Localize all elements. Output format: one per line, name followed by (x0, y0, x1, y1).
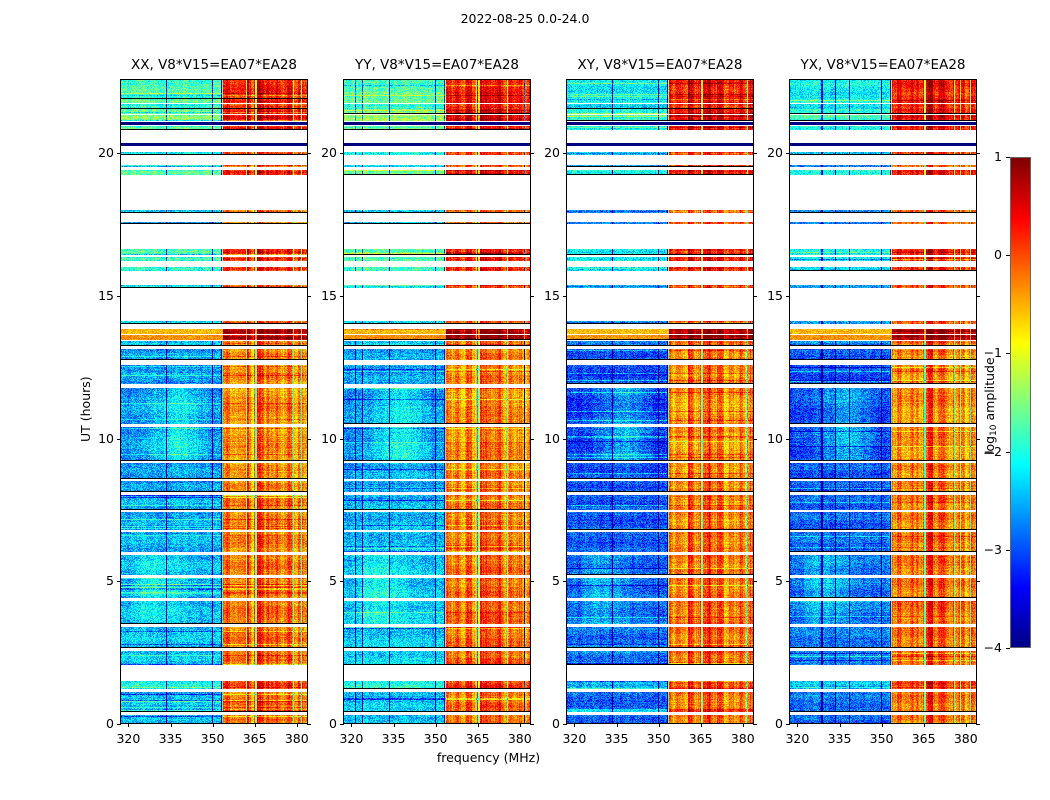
x-tick-mark (171, 723, 172, 727)
y-tick-label: 20 (743, 145, 783, 160)
y-tick-label: 10 (520, 431, 560, 446)
y-tick-label: 15 (743, 288, 783, 303)
x-tick-mark (840, 723, 841, 727)
x-tick-mark (701, 723, 702, 727)
y-tick-label: 15 (74, 288, 114, 303)
colorbar-tick-label: 1 (958, 149, 1002, 164)
y-tick-label: 20 (520, 145, 560, 160)
y-tick-label: 20 (297, 145, 337, 160)
x-tick-mark (882, 723, 883, 727)
colorbar-tick-label: 0 (958, 247, 1002, 262)
y-tick-label: 0 (743, 716, 783, 731)
x-axis-label: frequency (MHz) (0, 750, 977, 765)
waterfall-image-yy (344, 80, 531, 724)
y-tick-mark (340, 153, 344, 154)
panel-xx[interactable] (120, 79, 308, 724)
colorbar-tick-mark (1006, 550, 1010, 551)
y-tick-mark-right (976, 724, 980, 725)
y-tick-label: 10 (743, 431, 783, 446)
subplot-title-yx: YX, V8*V15=EA07*EA28 (729, 57, 1037, 73)
y-tick-mark (786, 296, 790, 297)
panel-yx[interactable] (789, 79, 977, 724)
figure-suptitle: 2022-08-25 0.0-24.0 (0, 11, 1050, 26)
colorbar-tick-mark (1006, 255, 1010, 256)
y-tick-mark (340, 724, 344, 725)
y-tick-mark (563, 296, 567, 297)
y-tick-mark (563, 581, 567, 582)
y-tick-label: 0 (297, 716, 337, 731)
y-tick-label: 5 (297, 573, 337, 588)
panel-xy[interactable] (566, 79, 754, 724)
y-tick-mark (340, 581, 344, 582)
y-tick-mark (117, 724, 121, 725)
x-tick-mark (797, 723, 798, 727)
colorbar-label-subscript: 10 (989, 424, 999, 435)
y-tick-label: 0 (520, 716, 560, 731)
y-tick-mark (563, 724, 567, 725)
y-tick-mark (786, 153, 790, 154)
y-tick-mark (786, 581, 790, 582)
waterfall-image-xx (121, 80, 308, 724)
x-tick-mark (966, 723, 967, 727)
y-tick-mark (340, 439, 344, 440)
colorbar-gradient (1011, 158, 1031, 648)
x-tick-label: 380 (495, 731, 545, 746)
y-tick-mark (563, 439, 567, 440)
y-tick-mark (117, 296, 121, 297)
x-tick-mark (924, 723, 925, 727)
x-tick-mark (478, 723, 479, 727)
y-tick-label: 10 (297, 431, 337, 446)
colorbar[interactable] (1010, 157, 1031, 648)
y-axis-label: UT (hours) (78, 376, 93, 442)
x-tick-mark (213, 723, 214, 727)
x-tick-mark (128, 723, 129, 727)
colorbar-tick-label: −4 (958, 640, 1002, 655)
y-tick-mark (340, 296, 344, 297)
x-tick-mark (574, 723, 575, 727)
x-tick-mark (394, 723, 395, 727)
y-tick-mark (563, 153, 567, 154)
colorbar-tick-mark (1006, 157, 1010, 158)
waterfall-image-xy (567, 80, 754, 724)
panel-yy[interactable] (343, 79, 531, 724)
y-tick-label: 20 (74, 145, 114, 160)
waterfall-image-yx (790, 80, 977, 724)
y-tick-mark-right (976, 296, 980, 297)
colorbar-label: log10 amplitude (982, 357, 999, 455)
x-tick-mark (351, 723, 352, 727)
x-tick-mark (436, 723, 437, 727)
x-tick-label: 380 (272, 731, 322, 746)
x-tick-label: 380 (718, 731, 768, 746)
colorbar-tick-mark (1006, 648, 1010, 649)
y-tick-mark-right (976, 439, 980, 440)
colorbar-tick-mark (1006, 452, 1010, 453)
x-tick-mark (659, 723, 660, 727)
colorbar-label-suffix: amplitude (982, 357, 997, 424)
y-tick-label: 5 (743, 573, 783, 588)
figure-canvas: 2022-08-25 0.0-24.0 XX, V8*V15=EA07*EA28… (0, 0, 1050, 800)
colorbar-tick-label: −3 (958, 542, 1002, 557)
y-tick-label: 15 (297, 288, 337, 303)
y-tick-label: 5 (74, 573, 114, 588)
y-tick-label: 0 (74, 716, 114, 731)
colorbar-tick-mark (1006, 353, 1010, 354)
y-tick-label: 15 (520, 288, 560, 303)
x-tick-mark (255, 723, 256, 727)
y-tick-mark (117, 153, 121, 154)
y-tick-label: 5 (520, 573, 560, 588)
y-tick-mark (117, 581, 121, 582)
colorbar-label-prefix: log (982, 435, 997, 454)
y-tick-mark-right (976, 581, 980, 582)
y-tick-mark (117, 439, 121, 440)
y-tick-mark (786, 724, 790, 725)
x-tick-mark (617, 723, 618, 727)
y-tick-mark (786, 439, 790, 440)
x-tick-label: 380 (941, 731, 991, 746)
